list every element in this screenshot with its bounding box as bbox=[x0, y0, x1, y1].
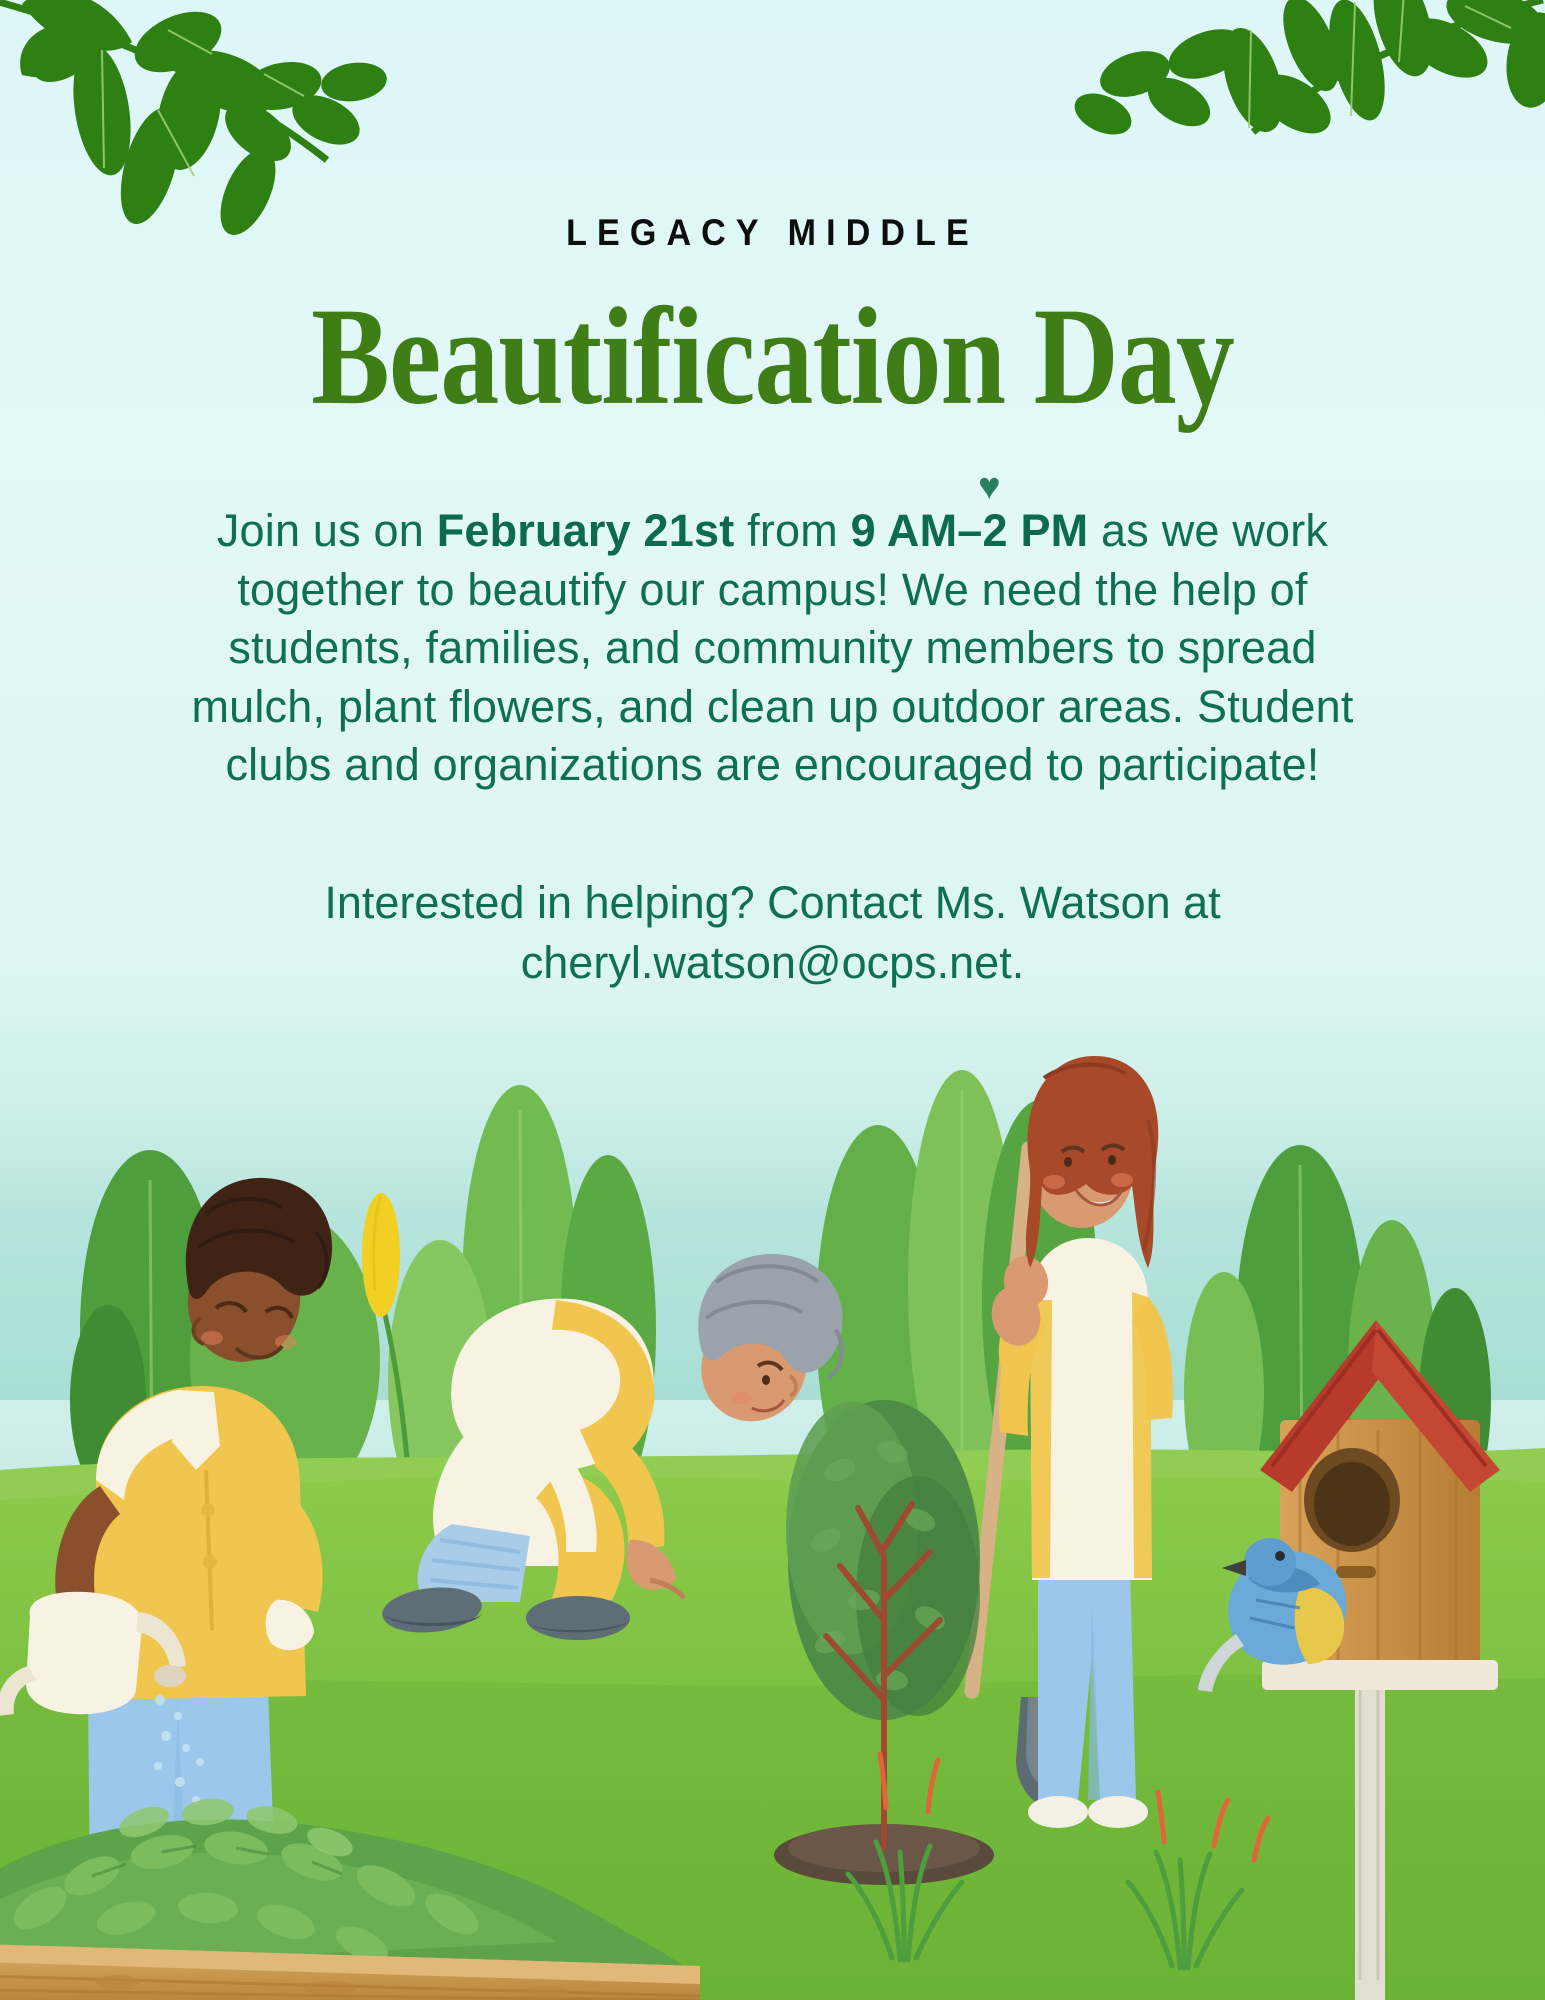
event-time: 9 AM–2 PM bbox=[851, 505, 1089, 556]
poster: LEGACY MIDDLE Beautification Day Join us… bbox=[0, 0, 1545, 2000]
garden-illustration bbox=[0, 1000, 1545, 2000]
text-block: LEGACY MIDDLE Beautification Day Join us… bbox=[0, 0, 1545, 993]
page-title: Beautification Day bbox=[0, 286, 1545, 428]
contact-block: Interested in helping? Contact Ms. Watso… bbox=[223, 873, 1323, 994]
event-date: February 21st bbox=[437, 505, 735, 556]
contact-email[interactable]: cheryl.watson@ocps.net. bbox=[223, 933, 1323, 993]
description-part-1: Join us on bbox=[217, 505, 437, 556]
school-name: LEGACY MIDDLE bbox=[62, 212, 1483, 254]
description-part-2: from bbox=[734, 505, 850, 556]
event-description: Join us on February 21st from 9 AM–2 PM … bbox=[173, 502, 1373, 795]
contact-line-1: Interested in helping? Contact Ms. Watso… bbox=[223, 873, 1323, 933]
